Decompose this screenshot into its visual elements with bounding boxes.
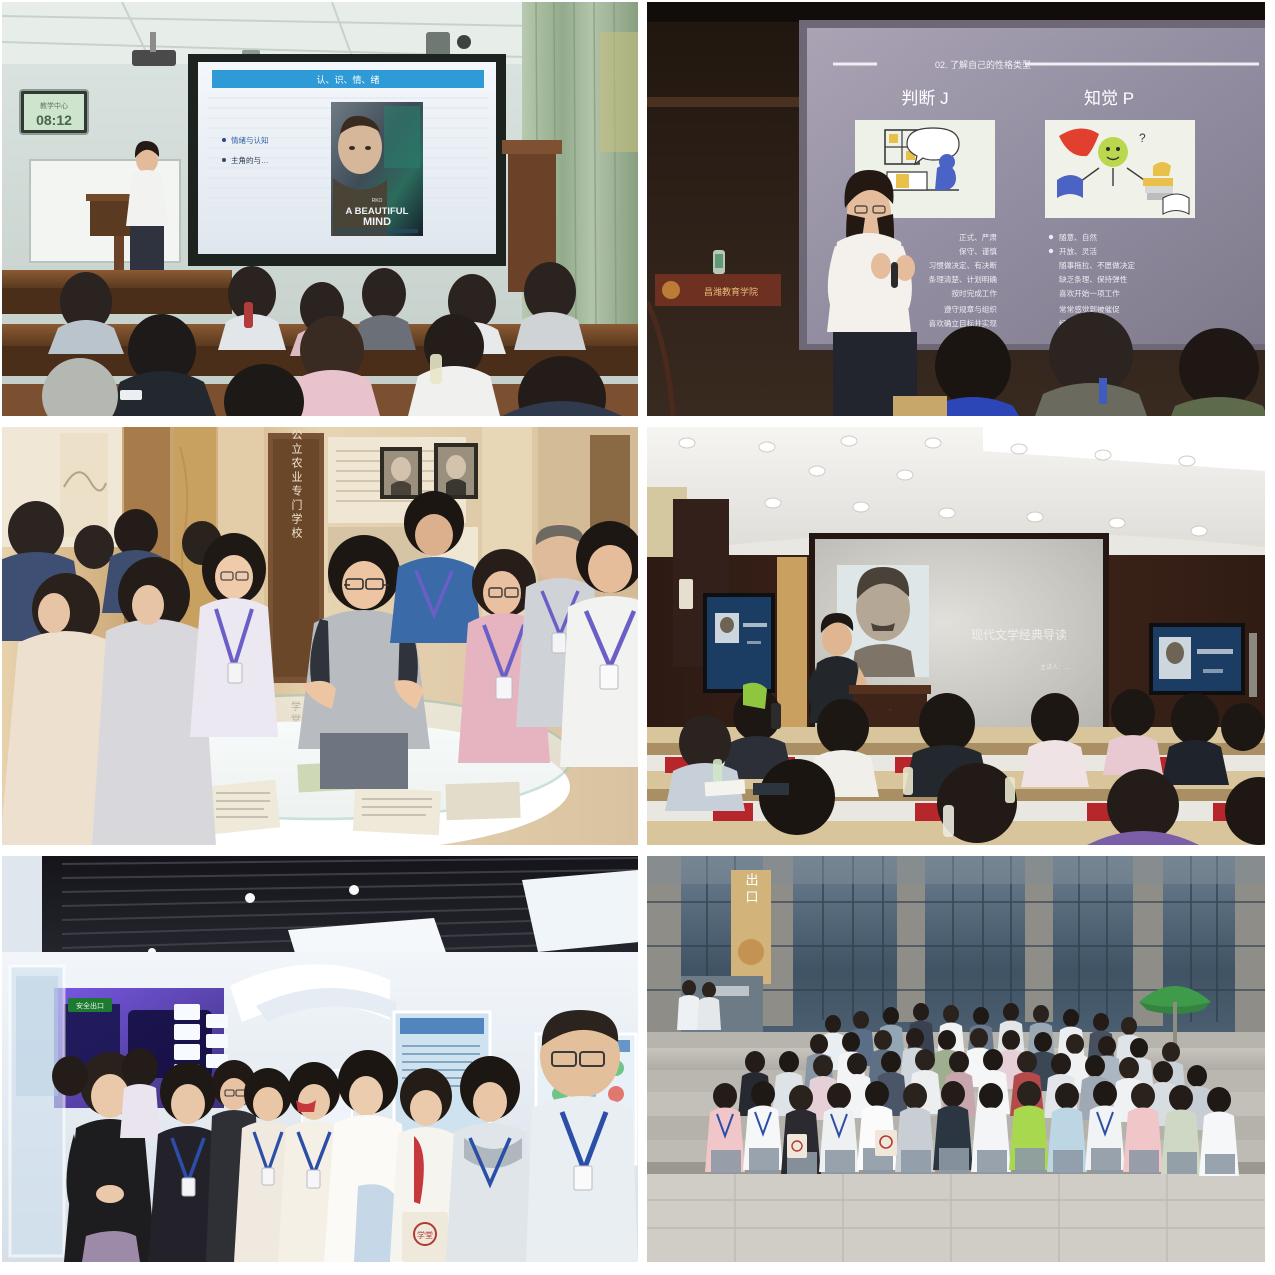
exhibit-vertical-title: 山东公立农业专门学校 — [290, 427, 303, 541]
water-bottle — [430, 354, 442, 384]
clock-time: 08:12 — [36, 112, 72, 128]
side-monitor-right — [1149, 623, 1245, 695]
slide-left-title: 判断 J — [901, 89, 948, 108]
poster-title-2: MIND — [363, 216, 391, 228]
tote-bag-mark: 学堂 — [417, 1230, 433, 1240]
svg-text:习惯做决定、有决断: 习惯做决定、有决断 — [929, 260, 998, 270]
svg-text:喜欢确立目标并实现: 喜欢确立目标并实现 — [929, 318, 998, 328]
svg-text:开放、灵活: 开放、灵活 — [1059, 246, 1097, 256]
panel-3-illustration: 山东公立农业专门学校 学堂草创 — [2, 427, 638, 845]
panel-2-illustration: 02. 了解自己的性格类型 判断 J 知觉 P — [647, 2, 1265, 416]
slide-header-text: 02. 了解自己的性格类型 — [935, 59, 1031, 70]
svg-text:?: ? — [1139, 131, 1146, 145]
tote-bag — [875, 1130, 897, 1156]
monitor-stand — [1249, 633, 1257, 697]
slide-bullet-1: 情绪与认知 — [231, 135, 269, 145]
thermos — [244, 302, 253, 328]
slide-subcaption: 主讲人：… · — [1040, 663, 1074, 671]
photo-panel-group-photo-steps: 出口 — [647, 856, 1265, 1262]
wall-led-clock: 教学中心 08:12 — [20, 90, 88, 134]
movie-poster: RKO A BEAUTIFUL MIND — [331, 102, 423, 236]
svg-text:·: · — [622, 636, 624, 643]
svg-text:喜欢开始一项工作: 喜欢开始一项工作 — [1059, 288, 1120, 298]
photo-panel-museum-exhibit-visit: 山东公立农业专门学校 学堂草创 — [2, 427, 638, 845]
poster-studio: RKO — [372, 198, 383, 204]
exit-banner-text: 出口 — [744, 873, 759, 907]
slide-caption: 现代文学经典导读 — [971, 627, 1067, 642]
svg-text:·: · — [889, 707, 891, 713]
microphone — [891, 262, 898, 288]
photo-panel-lecture-hall-portrait-slide: 现代文学经典导读 主讲人：… · — [647, 427, 1265, 845]
exit-sign: 安全出口 — [68, 998, 112, 1012]
panel-5-illustration: 安全出口 — [2, 856, 638, 1262]
slide-right-illustration: ? — [1045, 120, 1195, 218]
photo-panel-lecture-beautiful-mind: 教学中心 08:12 认、识、情、绪 情绪与认知 主角的与… — [2, 2, 638, 416]
svg-text:保守、谨慎: 保守、谨慎 — [959, 246, 997, 256]
svg-text:遵守规章与组织: 遵守规章与组织 — [944, 304, 998, 314]
plaza-paving — [647, 1174, 1265, 1262]
clock-label: 教学中心 — [40, 101, 68, 110]
svg-text:正式、严肃: 正式、严肃 — [959, 232, 997, 242]
svg-text:条理清楚、计划明确: 条理清楚、计划明确 — [929, 274, 998, 284]
photo-panel-science-hall-tour: 安全出口 — [2, 856, 638, 1262]
panel-6-illustration: 出口 — [647, 856, 1265, 1262]
panel-1-illustration: 教学中心 08:12 认、识、情、绪 情绪与认知 主角的与… — [2, 2, 638, 416]
photo-panel-mbti-personality-lecture: 02. 了解自己的性格类型 判断 J 知觉 P — [647, 2, 1265, 416]
wall-sconce — [679, 579, 693, 609]
svg-text:缺乏条理、保持弹性: 缺乏条理、保持弹性 — [1059, 274, 1128, 284]
photo-collage: 教学中心 08:12 认、识、情、绪 情绪与认知 主角的与… — [0, 0, 1275, 1275]
exit-sign-text: 安全出口 — [76, 1001, 104, 1010]
svg-text:随意、自然: 随意、自然 — [1059, 232, 1097, 242]
slide-title: 认、识、情、绪 — [316, 74, 379, 85]
slide-bullet-2: 主角的与… — [231, 155, 269, 165]
glass-partition — [10, 966, 64, 1256]
svg-text:按时完成工作: 按时完成工作 — [951, 288, 997, 298]
panel-4-illustration: 现代文学经典导读 主讲人：… · — [647, 427, 1265, 845]
slide-right-title: 知觉 P — [1084, 89, 1134, 108]
smartphone — [120, 390, 142, 400]
side-monitor-left — [703, 593, 775, 693]
exit-banner: 出口 — [731, 870, 771, 984]
svg-text:随事拖拉、不愿做决定: 随事拖拉、不愿做决定 — [1059, 260, 1135, 270]
podium-plaque: 昌潍教育学院 — [704, 286, 758, 297]
